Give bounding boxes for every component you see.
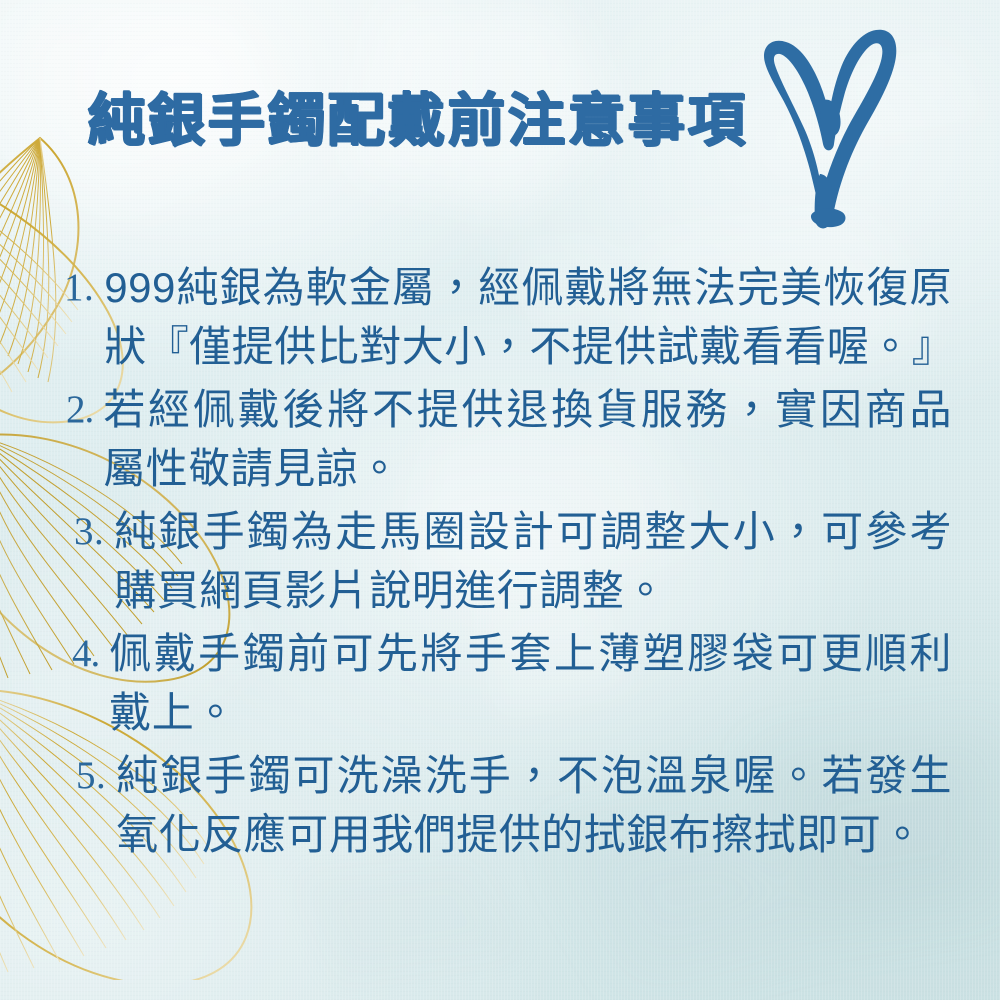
list-item-number: 4. [52,624,109,683]
list-item: 1. 999純銀為軟金屬，經佩戴將無法完美恢復原狀『僅提供比對大小，不提供試戴看… [52,258,952,376]
heart-icon [752,24,912,229]
list-item-text: 999純銀為軟金屬，經佩戴將無法完美恢復原狀『僅提供比對大小，不提供試戴看看喔。… [104,258,952,376]
list-item-number: 5. [52,746,116,805]
list-item-number: 1. [52,258,104,317]
page-title: 純銀手鐲配戴前注意事項 [88,84,748,158]
list-item: 5. 純銀手鐲可洗澡洗手，不泡溫泉喔。若發生氧化反應可用我們提供的拭銀布擦拭即可… [52,746,952,864]
list-item: 4. 佩戴手鐲前可先將手套上薄塑膠袋可更順利戴上。 [52,624,952,742]
poster-canvas: 純銀手鐲配戴前注意事項 1. 999純銀為軟金屬，經佩戴將無法完美恢復原狀『僅提… [0,0,1000,1000]
list-item-number: 3. [52,502,114,561]
list-item-number: 2. [52,380,103,439]
notice-list: 1. 999純銀為軟金屬，經佩戴將無法完美恢復原狀『僅提供比對大小，不提供試戴看… [52,258,952,868]
list-item-text: 若經佩戴後將不提供退換貨服務，實因商品屬性敬請見諒。 [103,380,952,498]
list-item: 3. 純銀手鐲為走馬圈設計可調整大小，可參考購買網頁影片說明進行調整。 [52,502,952,620]
list-item: 2. 若經佩戴後將不提供退換貨服務，實因商品屬性敬請見諒。 [52,380,952,498]
list-item-text: 佩戴手鐲前可先將手套上薄塑膠袋可更順利戴上。 [109,624,952,742]
list-item-text: 純銀手鐲可洗澡洗手，不泡溫泉喔。若發生氧化反應可用我們提供的拭銀布擦拭即可。 [116,746,952,864]
list-item-text: 純銀手鐲為走馬圈設計可調整大小，可參考購買網頁影片說明進行調整。 [114,502,952,620]
